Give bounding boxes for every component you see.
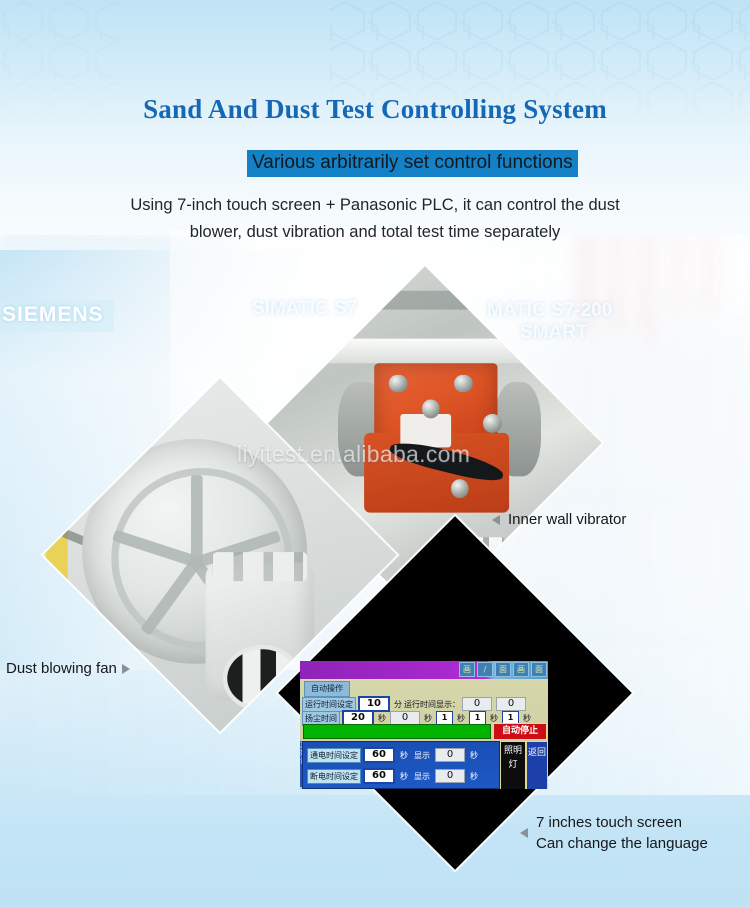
- hmi-extra-input-2[interactable]: 1: [469, 711, 486, 725]
- simatic-watermark-c: SMART: [520, 322, 588, 344]
- triangle-left-icon: [520, 828, 528, 838]
- hmi-power-on-display: 0: [435, 748, 465, 762]
- fan-yellow-panel: [46, 504, 68, 584]
- callout-touch-label-2: Can change the language: [536, 833, 708, 854]
- description: Using 7-inch touch screen + Panasonic PL…: [0, 192, 750, 245]
- hmi-body: 自动操作 运行时间设定 10 分 运行时间显示： 0 0 扬尘时间 20 秒 0…: [300, 679, 548, 789]
- hmi-extra-input-1[interactable]: 1: [436, 711, 453, 725]
- hmi-power-timing-panel: 通电时间设定 60 秒 显示 0 秒 断电时间设定 60 秒 显示 0 秒: [302, 741, 500, 789]
- promo-banner: SIEMENS SIMATIC S7 MATIC S7-200 SMART Sa…: [0, 0, 750, 908]
- hmi-screen-button-slash[interactable]: /: [477, 662, 493, 677]
- vibrator-bolt: [454, 374, 472, 392]
- hmi-power-on-display-label: 显示: [414, 750, 430, 761]
- vibrator-bolt: [421, 400, 439, 418]
- hmi-run-time-display-1: 0: [462, 697, 492, 711]
- hmi-power-off-unit: 秒: [400, 771, 408, 782]
- hmi-back-button[interactable]: 返回: [526, 741, 548, 789]
- callout-touch-label-1: 7 inches touch screen: [536, 812, 708, 833]
- hmi-power-on-unit: 秒: [400, 750, 408, 761]
- hmi-screen-button-4[interactable]: 面: [531, 662, 547, 677]
- vibrator-mount-plate: [316, 338, 541, 363]
- hmi-title-buttons: 画 / 面 画 面: [459, 662, 547, 677]
- hmi-power-off-display-unit: 秒: [470, 771, 478, 782]
- triangle-right-icon: [122, 664, 130, 674]
- hmi-power-off-input[interactable]: 60: [363, 768, 395, 784]
- hmi-power-on-input[interactable]: 60: [363, 747, 395, 763]
- vibrator-bolt: [389, 374, 407, 392]
- hmi-dust-time-display: 0: [390, 711, 420, 725]
- hmi-screen-button-2[interactable]: 面: [495, 662, 511, 677]
- page-title: Sand And Dust Test Controlling System: [0, 94, 750, 125]
- vibrator-bolt: [450, 479, 468, 497]
- hmi-screen-button-3[interactable]: 画: [513, 662, 529, 677]
- callout-touch-screen: 7 inches touch screen Can change the lan…: [520, 812, 708, 855]
- hmi-extra-unit-1: 秒: [457, 713, 465, 724]
- hmi-run-time-display-label: 运行时间显示：: [404, 699, 460, 710]
- hmi-title-bar: 画 / 面 画 面: [300, 661, 548, 679]
- callout-vibrator-label: Inner wall vibrator: [508, 511, 626, 528]
- simatic-watermark-a: SIMATIC S7: [252, 298, 357, 320]
- description-line-2: blower, dust vibration and total test ti…: [0, 219, 750, 246]
- hmi-power-off-row: 断电时间设定 60 秒 显示 0 秒: [307, 768, 481, 784]
- fan-motor-fins: [213, 551, 307, 580]
- vibrator-wall-strip: [248, 291, 602, 309]
- hmi-screen-button-1[interactable]: 画: [459, 662, 475, 677]
- subtitle-highlight: Various arbitrarily set control function…: [247, 150, 578, 177]
- callout-dust-blowing-fan: Dust blowing fan: [6, 660, 130, 677]
- callout-inner-wall-vibrator: Inner wall vibrator: [492, 511, 626, 528]
- vibrator-nameplate: [400, 414, 451, 447]
- hmi-mode-tag: 自动操作: [304, 681, 350, 697]
- hmi-auto-stop-button[interactable]: 自动停止: [493, 723, 547, 740]
- hmi-dust-time-unit-2: 秒: [424, 713, 432, 724]
- hmi-run-time-display-2: 0: [496, 697, 526, 711]
- hmi-power-on-label: 通电时间设定: [307, 748, 361, 763]
- hmi-power-off-label: 断电时间设定: [307, 769, 361, 784]
- triangle-left-icon: [492, 515, 500, 525]
- hmi-lamp-button[interactable]: 照明灯: [500, 741, 526, 789]
- hmi-extra-unit-3: 秒: [523, 713, 531, 724]
- simatic-watermark-b: MATIC S7-200: [487, 300, 612, 322]
- hmi-progress-bar: [303, 724, 491, 739]
- hmi-extra-unit-2: 秒: [490, 713, 498, 724]
- hmi-power-off-display: 0: [435, 769, 465, 783]
- vibrator-bolt: [483, 414, 501, 432]
- hmi-touch-screen[interactable]: 画 / 面 画 面 自动操作 运行时间设定 10 分 运行时间显示： 0 0 扬…: [300, 661, 548, 789]
- hmi-power-off-display-label: 显示: [414, 771, 430, 782]
- description-line-1: Using 7-inch touch screen + Panasonic PL…: [0, 192, 750, 219]
- callout-fan-label: Dust blowing fan: [6, 660, 117, 677]
- hmi-power-on-row: 通电时间设定 60 秒 显示 0 秒: [307, 747, 481, 763]
- hmi-run-time-unit: 分: [394, 699, 402, 710]
- hmi-power-on-display-unit: 秒: [470, 750, 478, 761]
- hmi-dust-time-unit: 秒: [378, 713, 386, 724]
- fan-blade: [191, 475, 202, 562]
- callout-touch-lines: 7 inches touch screen Can change the lan…: [536, 812, 708, 855]
- siemens-watermark: SIEMENS: [0, 300, 114, 332]
